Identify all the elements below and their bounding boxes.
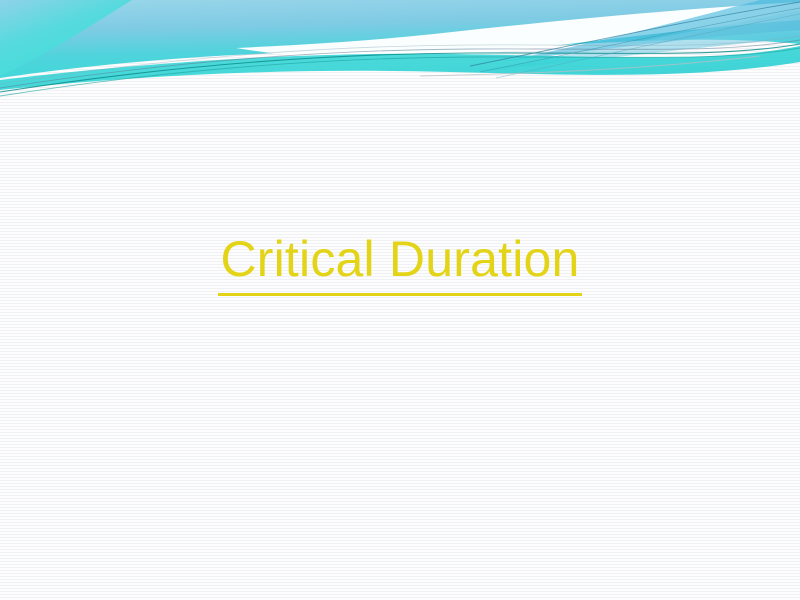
- page-title: Critical Duration: [218, 232, 581, 296]
- presentation-slide: Critical Duration: [0, 0, 800, 600]
- flow-wave-banner: [0, 0, 800, 110]
- title-placeholder: Critical Duration: [0, 232, 800, 296]
